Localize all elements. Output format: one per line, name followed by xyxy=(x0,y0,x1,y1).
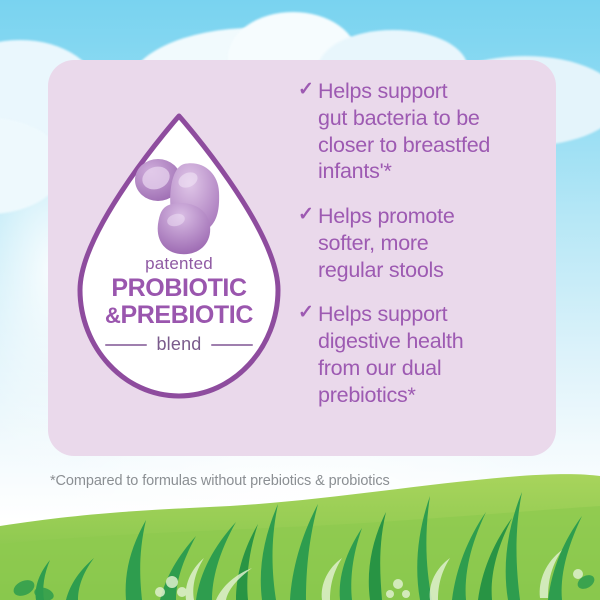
probiotic-prebiotic-badge xyxy=(66,108,292,404)
footnote-disclaimer: *Compared to formulas without prebiotics… xyxy=(50,473,570,489)
check-icon: ✓ xyxy=(298,203,315,227)
benefit-line: regular stools xyxy=(318,258,444,282)
check-icon: ✓ xyxy=(298,78,315,102)
benefit-line: from our dual xyxy=(318,356,441,380)
benefit-item: ✓ Helps support digestive health from ou… xyxy=(298,301,548,408)
benefit-text: Helps promote softer, more regular stool… xyxy=(318,203,455,283)
benefits-list: ✓ Helps support gut bacteria to be close… xyxy=(298,78,548,408)
benefit-text: Helps support digestive health from our … xyxy=(318,301,463,408)
benefit-line: Helps promote xyxy=(318,204,455,228)
benefit-line: Helps support xyxy=(318,302,447,326)
benefit-line: Helps support xyxy=(318,79,447,103)
benefit-line: closer to breastfed xyxy=(318,133,490,157)
benefit-line: softer, more xyxy=(318,231,429,255)
benefit-item: ✓ Helps promote softer, more regular sto… xyxy=(298,203,548,283)
benefit-line: infants'* xyxy=(318,159,392,183)
check-icon: ✓ xyxy=(298,301,315,325)
promo-graphic: patented PROBIOTIC &PREBIOTIC blend ✓ He… xyxy=(0,0,600,600)
benefit-line: gut bacteria to be xyxy=(318,106,480,130)
benefit-line: digestive health xyxy=(318,329,463,353)
grass-illustration xyxy=(0,470,600,600)
benefit-item: ✓ Helps support gut bacteria to be close… xyxy=(298,78,548,185)
benefit-text: Helps support gut bacteria to be closer … xyxy=(318,78,490,185)
benefit-line: prebiotics* xyxy=(318,383,416,407)
